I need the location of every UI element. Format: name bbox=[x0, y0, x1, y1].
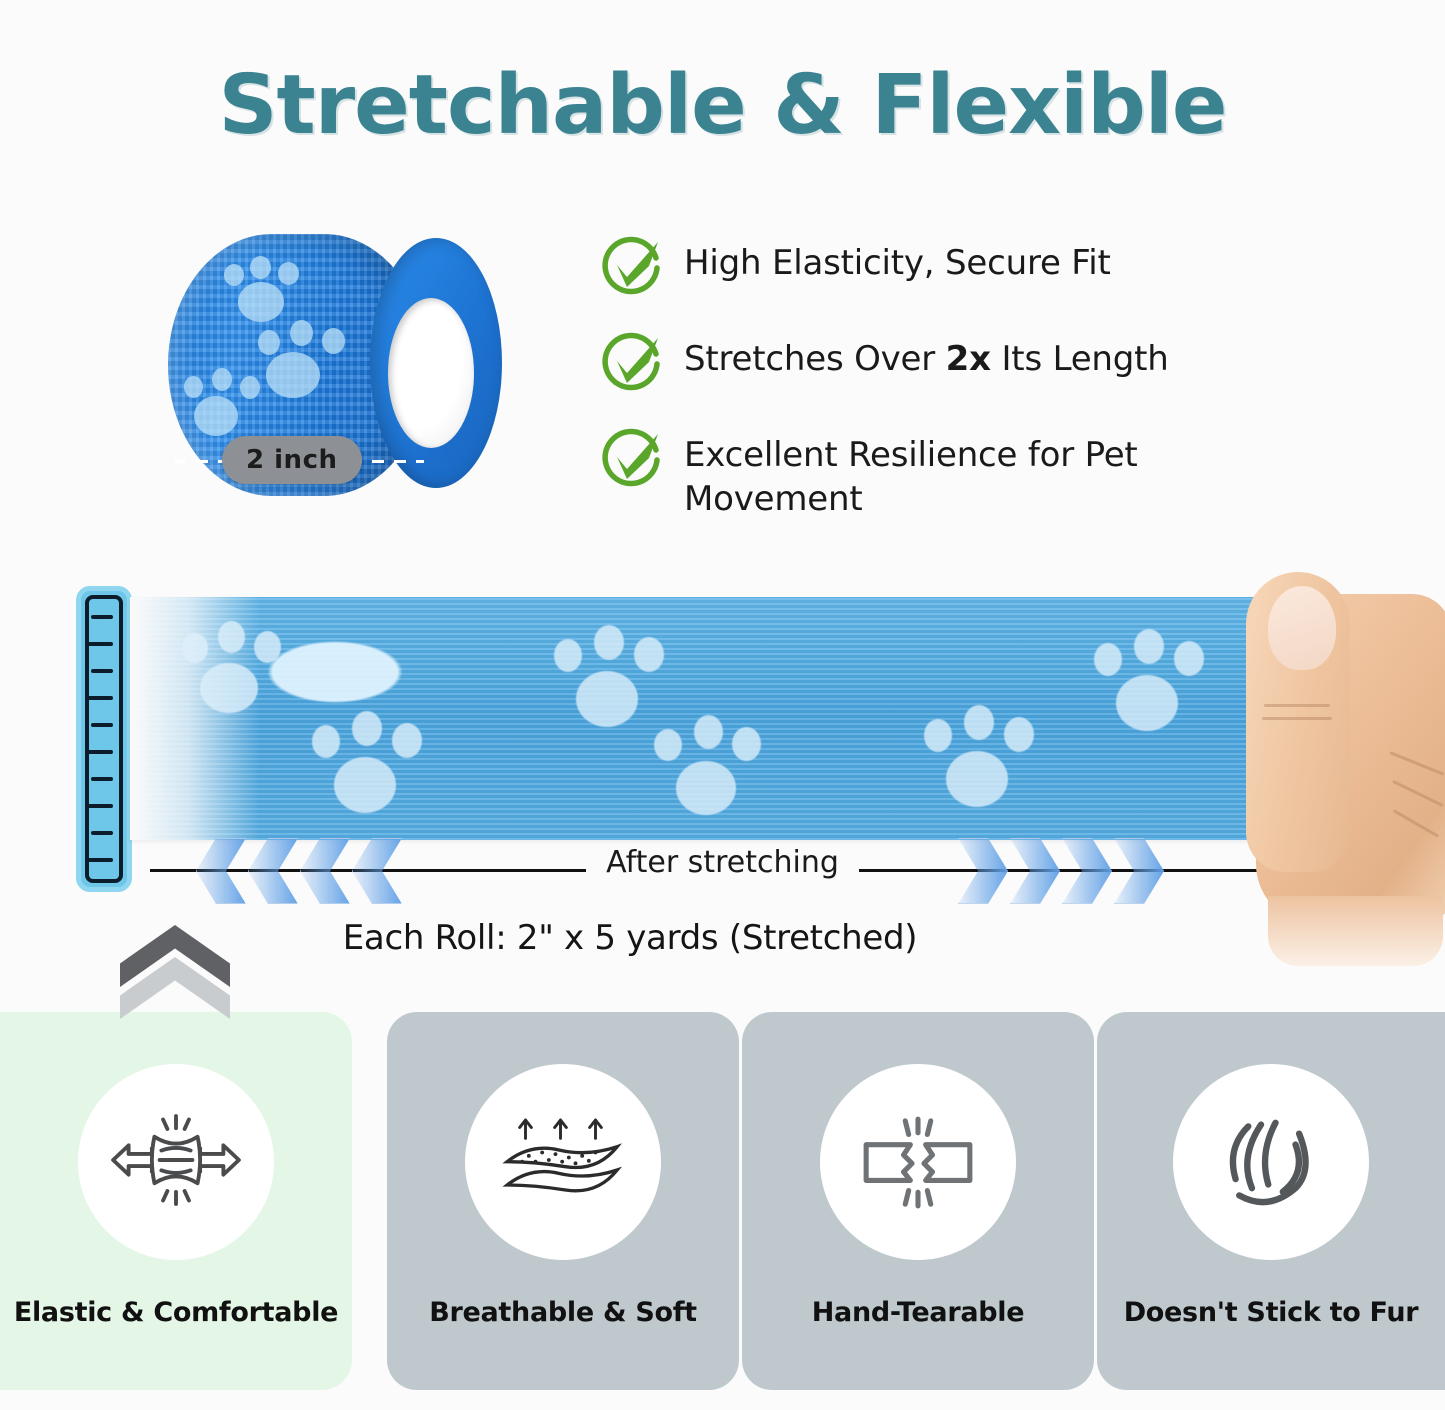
infographic-stage: Stretchable & Flexible 2 inch bbox=[0, 0, 1445, 1410]
bullet-item: Stretches Over 2x Its Length bbox=[600, 334, 1220, 392]
bullet-text: Stretches Over 2x Its Length bbox=[684, 334, 1169, 382]
ruler-inner bbox=[85, 595, 123, 883]
paw-print-icon bbox=[308, 711, 428, 819]
bullet-item: Excellent Resilience for Pet Movement bbox=[600, 430, 1220, 521]
wrist bbox=[1268, 896, 1443, 966]
paw-print-icon bbox=[256, 320, 352, 404]
roll-width-badge: 2 inch bbox=[222, 436, 362, 484]
tear-rectangle-icon bbox=[854, 1109, 982, 1216]
feature-card-tearable[interactable]: Hand-Tearable bbox=[742, 1012, 1094, 1390]
bullet-text: High Elasticity, Secure Fit bbox=[684, 238, 1111, 286]
after-stretching-label-wrap: After stretching bbox=[0, 845, 1445, 880]
check-circle-icon bbox=[600, 234, 662, 296]
bandage-roll-image: 2 inch bbox=[160, 228, 500, 516]
bullet-text-after: Its Length bbox=[991, 339, 1169, 379]
feature-card-elastic[interactable]: Elastic & Comfortable bbox=[0, 1012, 352, 1390]
feature-card-label: Breathable & Soft bbox=[387, 1297, 739, 1328]
bullet-text: Excellent Resilience for Pet Movement bbox=[684, 430, 1154, 521]
hand-gripping-tape bbox=[1238, 566, 1445, 966]
paw-print-icon bbox=[178, 621, 288, 719]
paw-print-icon bbox=[650, 715, 768, 821]
icon-circle bbox=[78, 1064, 274, 1260]
paw-print-icon bbox=[184, 368, 270, 444]
feature-card-row: Elastic & Comfortable bbox=[0, 1012, 1445, 1392]
icon-circle bbox=[1173, 1064, 1369, 1260]
paw-print-icon bbox=[1090, 629, 1210, 737]
breathable-fabric-icon bbox=[500, 1110, 626, 1215]
thumbnail bbox=[1268, 586, 1336, 670]
bullet-item: High Elasticity, Secure Fit bbox=[600, 238, 1220, 296]
feature-bullet-list: High Elasticity, Secure Fit Stretches Ov… bbox=[600, 238, 1220, 559]
page-title: Stretchable & Flexible bbox=[0, 58, 1445, 153]
paw-print-icon bbox=[220, 256, 306, 326]
roll-core-hole bbox=[388, 298, 474, 448]
bullet-text-before: Stretches Over bbox=[684, 339, 946, 379]
feature-card-label: Doesn't Stick to Fur bbox=[1097, 1297, 1445, 1328]
icon-circle bbox=[465, 1064, 661, 1260]
fur-swirl-icon bbox=[1212, 1101, 1330, 1224]
feature-card-label: Elastic & Comfortable bbox=[0, 1297, 352, 1328]
feature-card-breathable[interactable]: Breathable & Soft bbox=[387, 1012, 739, 1390]
icon-circle bbox=[820, 1064, 1016, 1260]
bullet-text-emphasis: 2x bbox=[946, 339, 991, 379]
stretched-tape-band bbox=[130, 597, 1255, 840]
paw-print-icon bbox=[920, 705, 1040, 813]
stretch-arrows-icon bbox=[111, 1104, 241, 1221]
after-stretching-label: After stretching bbox=[586, 845, 859, 880]
check-circle-icon bbox=[600, 330, 662, 392]
feature-card-no-stick[interactable]: Doesn't Stick to Fur bbox=[1097, 1012, 1445, 1390]
thumb bbox=[1246, 572, 1350, 872]
check-circle-icon bbox=[600, 426, 662, 488]
feature-card-label: Hand-Tearable bbox=[742, 1297, 1094, 1328]
double-chevron-up-icon bbox=[120, 925, 230, 1035]
